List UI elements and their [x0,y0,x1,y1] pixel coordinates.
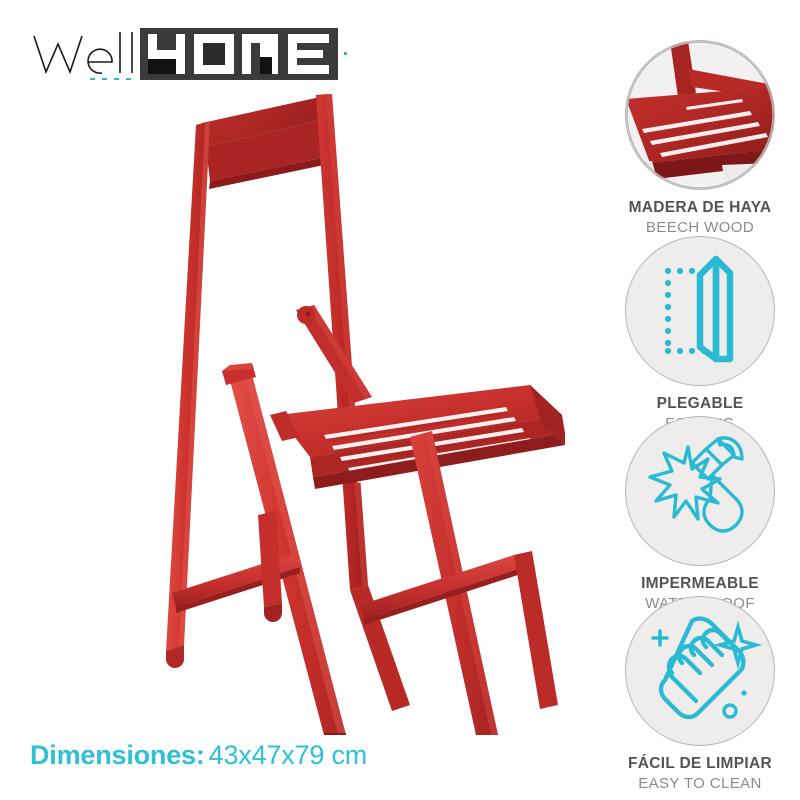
logo-dots [90,78,131,80]
feature-circle-beech-wood [625,40,775,190]
logo-accent-dot [344,52,347,55]
feature-circle-folding [625,236,775,386]
hammer-impact-icon [626,417,774,565]
product-infographic-page: Dimensiones:43x47x79 cm [0,0,800,800]
feature-title: IMPERMEABLE [600,575,800,593]
sparkle-dot-right [741,690,746,695]
product-image-chair [110,85,580,735]
feature-subtitle: BEECH WOOD [600,219,800,236]
hammer-head [692,438,742,479]
brand-logo [28,24,348,86]
chair-rear-right-outer-leg [514,551,558,709]
dimensions-value: 43x47x79 cm [209,740,367,770]
sparkle-small-top-left [653,631,667,645]
cleaning-cloth [661,619,743,717]
folding-leaf-right [716,259,730,359]
feature-subtitle: EASY TO CLEAN [600,775,800,792]
feature-badge-easy-clean: FÁCIL DE LIMPIAR EASY TO CLEAN [600,596,800,792]
chair-foot-left-rear [324,733,346,735]
chair-seat-slats-photo-icon [626,41,774,189]
logo-home-block [140,28,338,80]
sparkle-large [720,627,756,663]
feature-circle-easy-clean [625,596,775,746]
chair-backrest-rail [196,94,332,189]
feature-badge-list: MADERA DE HAYA BEECH WOOD [600,40,800,780]
feature-badge-beech-wood: MADERA DE HAYA BEECH WOOD [600,40,800,236]
sparkle-ring-right [724,705,736,717]
dimensions-caption: Dimensiones:43x47x79 cm [30,740,367,771]
feature-title: PLEGABLE [600,395,800,413]
feature-badge-folding: PLEGABLE FOLDING [600,236,800,432]
feature-title: MADERA DE HAYA [600,199,800,217]
dimensions-label: Dimensiones: [30,740,205,770]
impact-burst [650,447,720,519]
feature-circle-waterproof [625,416,775,566]
hammer-handle [704,475,742,531]
feature-badge-waterproof: IMPERMEABLE WATERPROOF [600,416,800,612]
hand-wiping-sparkle-icon [626,597,774,745]
folding-panel-icon [626,237,774,385]
logo-well-text [34,32,132,73]
feature-title: FÁCIL DE LIMPIAR [600,755,800,773]
